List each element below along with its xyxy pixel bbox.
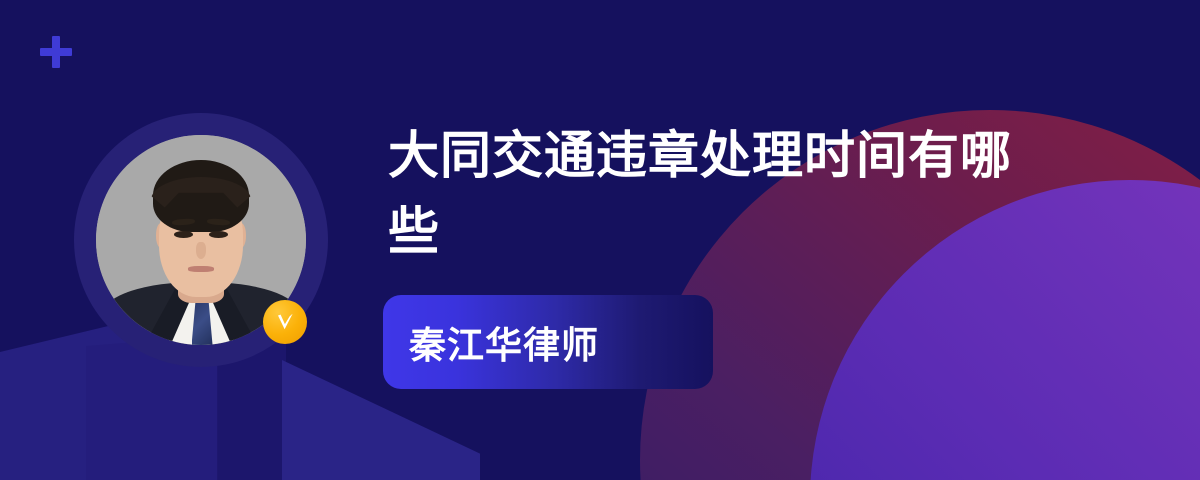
verified-badge-icon <box>263 300 307 344</box>
plus-icon <box>40 36 72 68</box>
page-title: 大同交通违章处理时间有哪些 <box>388 118 1058 270</box>
article-cover-banner: 大同交通违章处理时间有哪些 秦江华律师 <box>0 0 1200 480</box>
headline-block: 大同交通违章处理时间有哪些 <box>388 118 1088 270</box>
portrait-nose <box>196 242 207 259</box>
portrait-mouth <box>188 266 213 271</box>
author-name-button[interactable]: 秦江华律师 <box>383 295 713 389</box>
author-name-label: 秦江华律师 <box>409 315 599 369</box>
portrait-eye-right <box>209 231 228 238</box>
portrait-eye-left <box>174 231 193 238</box>
